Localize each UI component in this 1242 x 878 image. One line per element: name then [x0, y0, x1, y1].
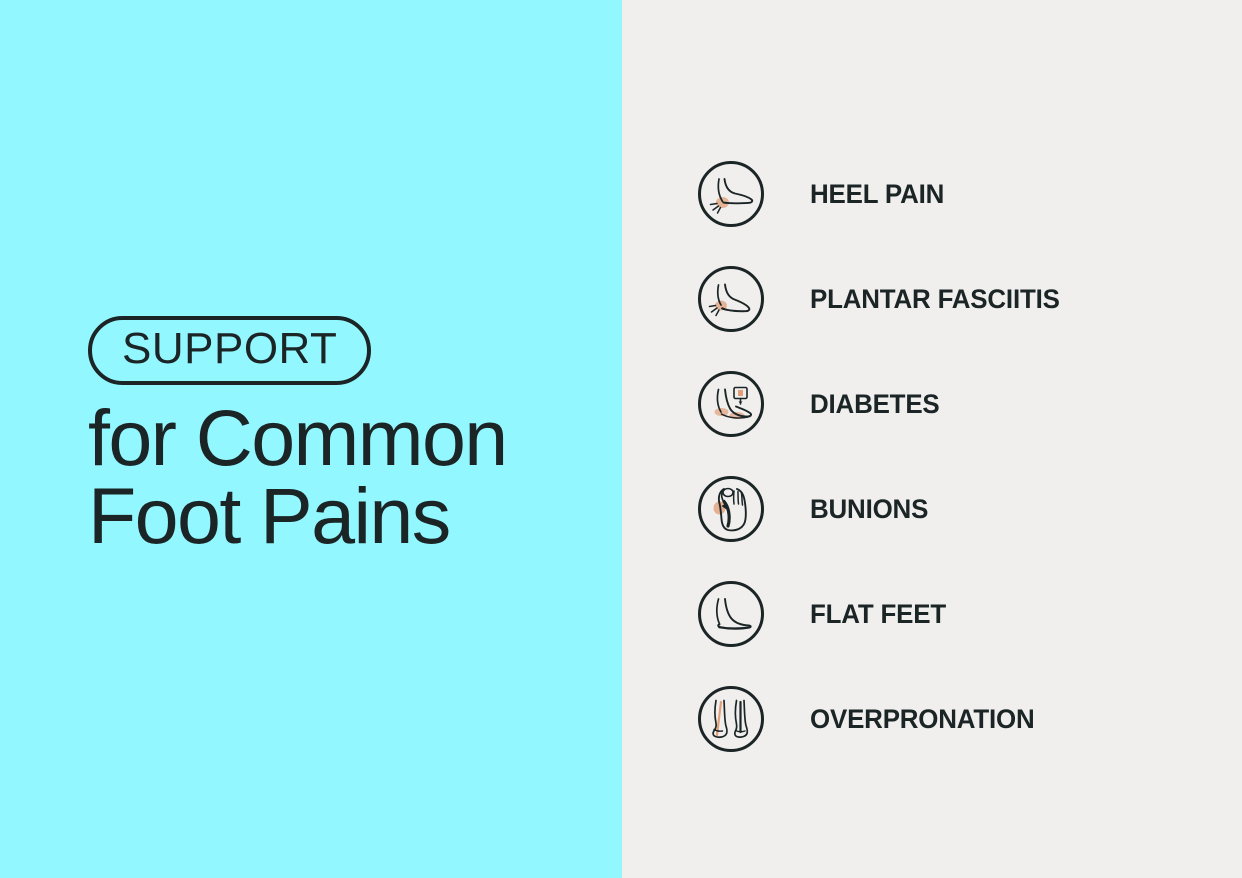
list-item-plantar-fasciitis: PLANTAR FASCIITIS	[697, 265, 1227, 333]
condition-label: HEEL PAIN	[810, 179, 944, 210]
list-item-bunions: BUNIONS	[697, 475, 1227, 543]
foot-bunions-icon	[697, 475, 765, 543]
feet-overpronation-icon	[697, 685, 765, 753]
condition-list: HEEL PAIN	[697, 160, 1227, 753]
condition-label: OVERPRONATION	[810, 704, 1035, 735]
list-item-heel-pain: HEEL PAIN	[697, 160, 1227, 228]
list-item-overpronation: OVERPRONATION	[697, 685, 1227, 753]
support-badge-label: SUPPORT	[122, 327, 337, 372]
support-badge: SUPPORT	[88, 316, 371, 385]
foot-pain-infographic: SUPPORT for Common Foot Pains	[0, 0, 1242, 878]
foot-diabetes-icon	[697, 370, 765, 438]
left-panel: SUPPORT for Common Foot Pains	[0, 0, 622, 878]
condition-label: BUNIONS	[810, 494, 928, 525]
page-title: for Common Foot Pains	[88, 399, 588, 555]
right-panel: HEEL PAIN	[622, 0, 1242, 878]
foot-flat-feet-icon	[697, 580, 765, 648]
condition-label: DIABETES	[810, 389, 940, 420]
foot-heel-pain-icon	[697, 160, 765, 228]
condition-label: PLANTAR FASCIITIS	[810, 284, 1060, 315]
foot-plantar-fasciitis-icon	[697, 265, 765, 333]
headline-block: SUPPORT for Common Foot Pains	[88, 316, 588, 555]
list-item-diabetes: DIABETES	[697, 370, 1227, 438]
condition-label: FLAT FEET	[810, 599, 946, 630]
list-item-flat-feet: FLAT FEET	[697, 580, 1227, 648]
